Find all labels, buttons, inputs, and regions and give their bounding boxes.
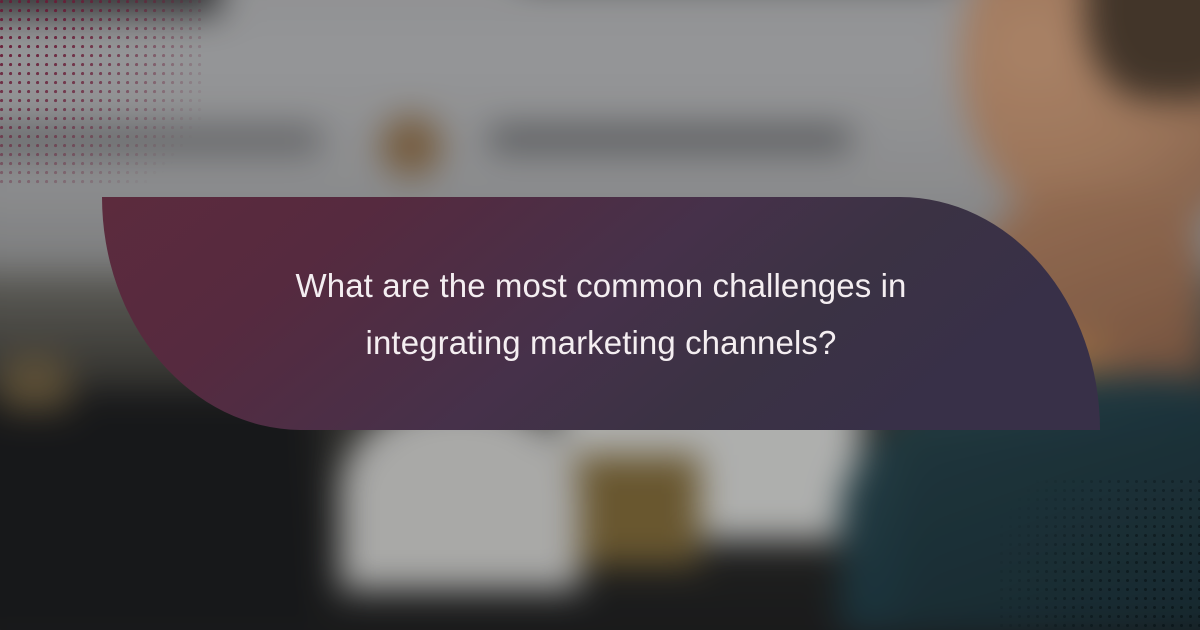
question-banner: What are the most common challenges in i… bbox=[102, 197, 1100, 430]
share-card: What are the most common challenges in i… bbox=[0, 0, 1200, 630]
question-text: What are the most common challenges in i… bbox=[102, 257, 1100, 371]
question-line-2: integrating marketing channels? bbox=[162, 314, 1040, 371]
question-line-1: What are the most common challenges in bbox=[162, 257, 1040, 314]
